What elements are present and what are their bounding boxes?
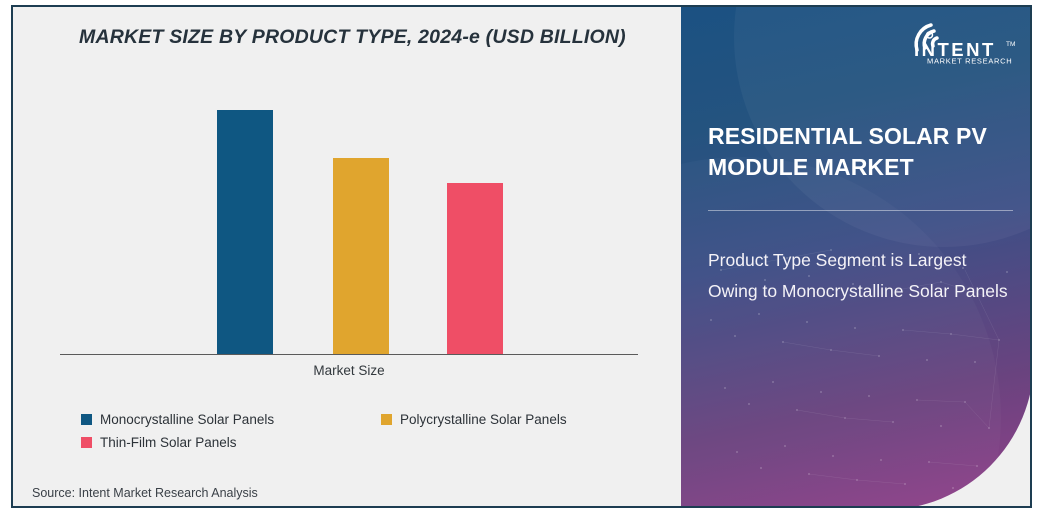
- bar-chart-plot: [60, 87, 638, 355]
- logo-tagline: MARKET RESEARCH: [927, 57, 1012, 66]
- legend-label: Thin-Film Solar Panels: [100, 435, 237, 450]
- bar-1[interactable]: [217, 110, 273, 354]
- legend-row: Thin-Film Solar Panels: [81, 435, 641, 450]
- hero-title: RESIDENTIAL SOLAR PV MODULE MARKET: [708, 121, 1018, 183]
- chart-panel: MARKET SIZE BY PRODUCT TYPE, 2024-e (USD…: [13, 7, 681, 506]
- infographic-card: MARKET SIZE BY PRODUCT TYPE, 2024-e (USD…: [11, 5, 1032, 508]
- source-note: Source: Intent Market Research Analysis: [32, 486, 258, 500]
- bar-fill: [447, 183, 503, 354]
- x-axis-label: Market Size: [60, 363, 638, 378]
- x-axis-line: [60, 354, 638, 355]
- bar-3[interactable]: [447, 183, 503, 354]
- legend-item-monocrystalline[interactable]: Monocrystalline Solar Panels: [81, 412, 381, 427]
- legend-swatch-icon: [381, 414, 392, 425]
- intent-market-research-logo: INTENT TM MARKET RESEARCH: [900, 17, 1018, 65]
- legend-item-polycrystalline[interactable]: Polycrystalline Solar Panels: [381, 412, 567, 427]
- legend-swatch-icon: [81, 437, 92, 448]
- bar-fill: [333, 158, 389, 354]
- legend-item-thin-film[interactable]: Thin-Film Solar Panels: [81, 435, 381, 450]
- legend-label: Monocrystalline Solar Panels: [100, 412, 274, 427]
- bar-fill: [217, 110, 273, 354]
- logo-artwork: INTENT TM MARKET RESEARCH: [900, 17, 1018, 65]
- legend-swatch-icon: [81, 414, 92, 425]
- chart-legend: Monocrystalline Solar Panels Polycrystal…: [81, 412, 641, 458]
- hero-panel: INTENT TM MARKET RESEARCH RESIDENTIAL SO…: [681, 7, 1032, 508]
- source-divider: [13, 477, 681, 478]
- screenshot-frame: MARKET SIZE BY PRODUCT TYPE, 2024-e (USD…: [0, 0, 1043, 513]
- hero-subtitle: Product Type Segment is Largest Owing to…: [708, 245, 1020, 307]
- logo-trademark: TM: [1006, 41, 1015, 48]
- hero-divider: [708, 210, 1013, 211]
- chart-title: MARKET SIZE BY PRODUCT TYPE, 2024-e (USD…: [79, 24, 659, 50]
- legend-row: Monocrystalline Solar Panels Polycrystal…: [81, 412, 641, 427]
- legend-label: Polycrystalline Solar Panels: [400, 412, 567, 427]
- bar-2[interactable]: [333, 158, 389, 354]
